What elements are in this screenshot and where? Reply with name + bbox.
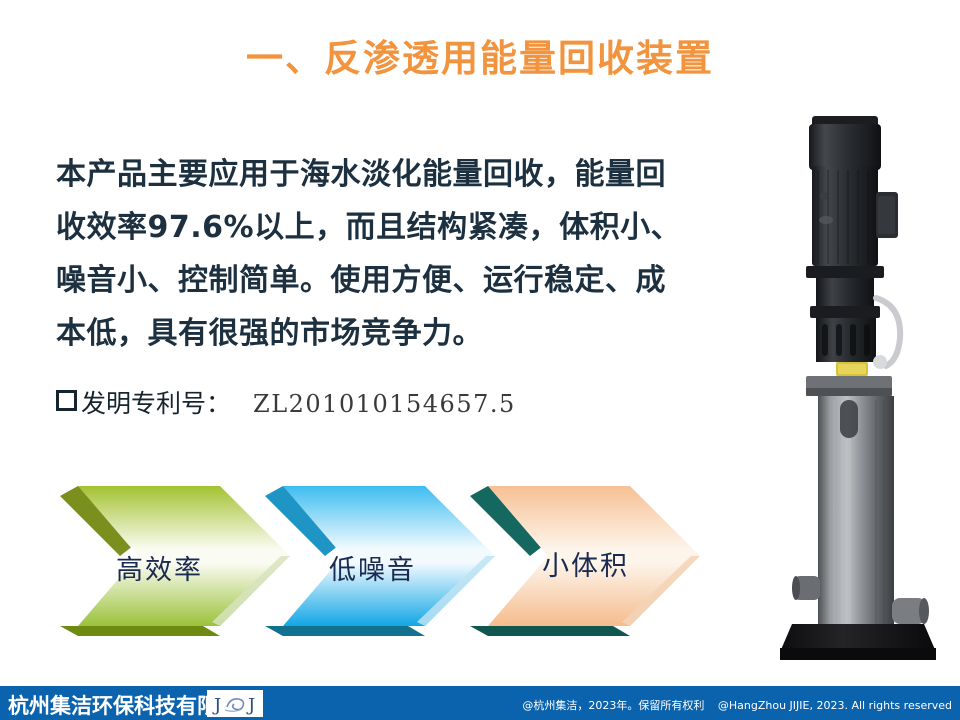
chevron-label: 高效率: [116, 548, 203, 587]
patent-line: 发明专利号： ZL201010154657.5: [56, 384, 516, 420]
patent-number: ZL201010154657.5: [253, 390, 516, 418]
body-paragraph: 本产品主要应用于海水淡化能量回收，能量回收效率97.6%以上，而且结构紧凑，体积…: [56, 148, 696, 360]
product-image-energy-recovery-pump: [758, 100, 958, 660]
chevron-label: 小体积: [542, 544, 629, 583]
footer-copyright: @杭州集洁，2023年。保留所有权利 @HangZhou JIJIE, 2023…: [522, 697, 952, 713]
page-title: 一、反渗透用能量回收装置: [0, 28, 960, 82]
footer-copyright-cn: @杭州集洁，2023年。保留所有权利: [522, 699, 704, 712]
chevron-low-noise: 低噪音: [265, 486, 495, 636]
chevron-small-volume: 小体积: [470, 486, 700, 636]
chevron-high-efficiency: 高效率: [60, 486, 290, 636]
svg-text:J: J: [212, 695, 221, 715]
footer-copyright-en: @HangZhou JIJIE, 2023. All rights reserv…: [718, 699, 952, 712]
patent-label: 发明专利号：: [81, 384, 231, 420]
company-logo: J J: [207, 690, 263, 717]
feature-chevron-band: 高效率 低噪音: [60, 470, 680, 640]
chevron-label: 低噪音: [329, 548, 416, 587]
square-bullet-icon: [56, 390, 77, 411]
svg-text:J: J: [246, 695, 255, 715]
